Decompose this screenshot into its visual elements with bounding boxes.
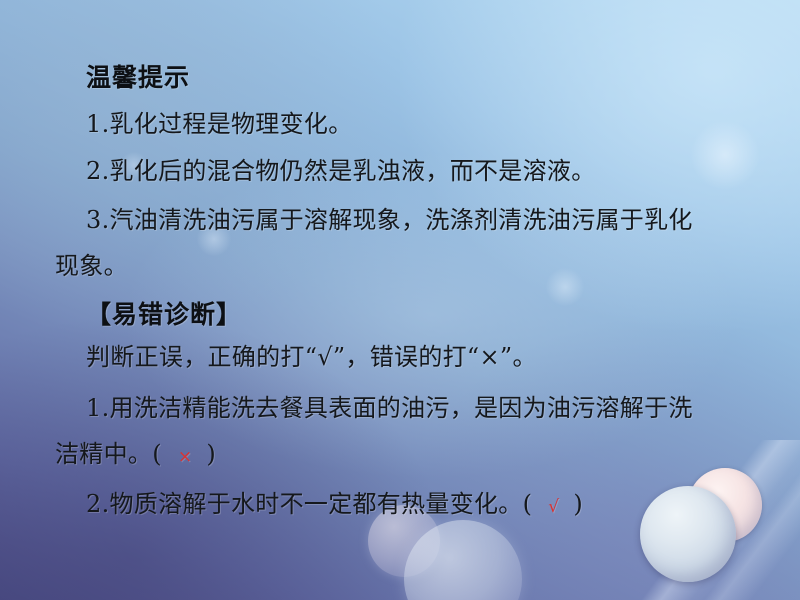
tips-item-2: 2.乳化后的混合物仍然是乳浊液，而不是溶液。 — [86, 151, 596, 186]
question-1-answer-cross[interactable]: × — [162, 447, 207, 467]
slide-text-content: 温馨提示 1.乳化过程是物理变化。 2.乳化后的混合物仍然是乳浊液，而不是溶液。… — [0, 0, 800, 600]
tips-item-1: 1.乳化过程是物理变化。 — [86, 104, 353, 139]
question-1-line-2: 洁精中。(×) — [55, 434, 216, 469]
question-2-answer-check[interactable]: √ — [532, 497, 573, 517]
diagnosis-instruction: 判断正误，正确的打“√”，错误的打“×”。 — [86, 337, 537, 372]
diagnosis-heading: 【易错诊断】 — [86, 295, 242, 331]
question-1-prefix: 洁精中。( — [55, 440, 162, 468]
question-2-prefix: 2.物质溶解于水时不一定都有热量变化。( — [86, 490, 532, 518]
question-2-suffix: ) — [573, 490, 583, 518]
question-2-line-1: 2.物质溶解于水时不一定都有热量变化。(√) — [86, 484, 583, 519]
tips-heading: 温馨提示 — [86, 58, 190, 94]
slide-canvas: 温馨提示 1.乳化过程是物理变化。 2.乳化后的混合物仍然是乳浊液，而不是溶液。… — [0, 0, 800, 600]
question-1-suffix: ) — [206, 440, 216, 468]
question-1-line-1: 1.用洗洁精能洗去餐具表面的油污，是因为油污溶解于洗 — [86, 388, 693, 423]
tips-item-3: 3.汽油清洗油污属于溶解现象，洗涤剂清洗油污属于乳化 — [86, 200, 693, 235]
tips-item-3-continuation: 现象。 — [55, 246, 128, 281]
